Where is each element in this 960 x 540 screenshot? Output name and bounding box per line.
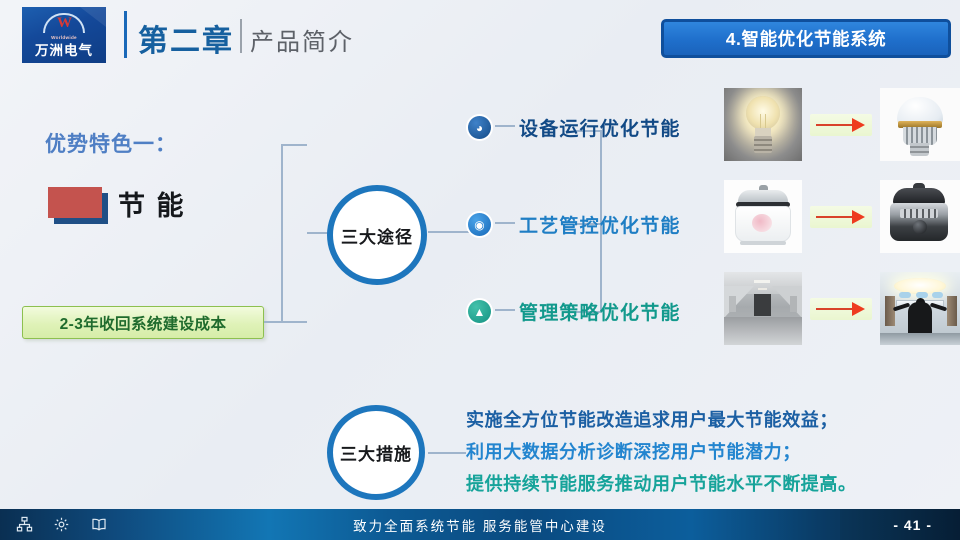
corridor-door-left-shape: [729, 296, 736, 312]
lit-lobby-photo: [880, 272, 960, 345]
left-bracket-bottom-stub: [264, 321, 307, 323]
logo-subtext: Worldwide: [51, 35, 77, 41]
path-item-2-label: 工艺管控优化节能: [519, 211, 681, 238]
measure-line-2: 利用大数据分析诊断深挖用户节能潜力；: [466, 436, 956, 468]
bulb-base-shape: [754, 136, 772, 153]
title-separator: [240, 19, 242, 53]
company-logo: W Worldwide 万洲电气: [22, 7, 106, 63]
electric-pressure-cooker-photo: [880, 180, 960, 253]
logo-emblem-icon: W: [41, 12, 87, 34]
paths-circle-node[interactable]: 三大途径: [327, 185, 427, 285]
path-item-1-label: 设备运行优化节能: [519, 114, 681, 141]
feature-value-text: 节 能: [118, 184, 186, 223]
slide-footer: 致力全面系统节能 服务能管中心建设 - 41 -: [0, 509, 960, 540]
arrow-head: [852, 210, 865, 224]
path-item-1[interactable]: ◕ 设备运行优化节能: [468, 114, 681, 141]
corridor-floor-shape: [724, 317, 802, 345]
actions-circle-node[interactable]: 三大措施: [327, 405, 425, 500]
pressure-cooker-panel-shape: [900, 209, 938, 218]
actions-circle-label: 三大措施: [340, 440, 412, 465]
measure-line-3: 提供持续节能服务推动用户节能水平不断提高。: [466, 468, 956, 500]
measure-line-1: 实施全方位节能改造追求用户最大节能效益；: [466, 404, 956, 436]
feature-label: 优势特色一：: [45, 128, 177, 158]
left-bracket-top-stub: [281, 144, 307, 146]
page-number: - 41 -: [893, 517, 932, 533]
red-arrow-icon: [810, 298, 872, 320]
image-pair-corridor: [724, 272, 960, 345]
paths-circle-label: 三大途径: [341, 223, 413, 248]
pressure-cooker-lid-shape: [893, 188, 945, 204]
actions-circle-connector: [428, 452, 466, 454]
lobby-decor-3-shape: [932, 292, 943, 298]
corridor-lamp-2-shape: [758, 288, 767, 290]
chapter-title: 第二章: [138, 16, 234, 60]
dark-corridor-photo: [724, 272, 802, 345]
incandescent-bulb-photo: [724, 88, 802, 161]
lobby-floor-shape: [880, 333, 960, 345]
clock-circle-icon: ◕: [468, 116, 491, 139]
arrow-shaft: [816, 124, 854, 126]
measures-list: 实施全方位节能改造追求用户最大节能效益； 利用大数据分析诊断深挖用户节能潜力； …: [466, 404, 956, 500]
led-cap-shape: [910, 143, 929, 156]
image-pair-cookers: [724, 180, 960, 253]
cooker-foot-shape: [740, 241, 786, 245]
arrow-head: [852, 118, 865, 132]
rice-cooker-photo: [724, 180, 802, 253]
person-body-shape: [908, 302, 932, 336]
cost-recovery-label: 2-3年收回系统建设成本: [60, 312, 227, 334]
red-arrow-icon: [810, 114, 872, 136]
feature-color-swatch: [48, 187, 102, 218]
cost-recovery-box: 2-3年收回系统建设成本: [22, 306, 264, 339]
logo-company-name: 万洲电气: [35, 42, 93, 59]
cooker-pattern-shape: [752, 214, 772, 232]
section-banner: 4.智能优化节能系统: [661, 19, 951, 58]
path-item-2[interactable]: ◉ 工艺管控优化节能: [468, 211, 681, 238]
pressure-cooker-dial-shape: [913, 220, 927, 234]
corridor-vanishing-point-shape: [754, 294, 771, 316]
page-subtitle: 产品简介: [250, 22, 354, 57]
title-divider: [124, 11, 127, 58]
left-bracket-vertical: [281, 144, 283, 322]
bulb-filament-shape: [760, 114, 766, 128]
path-item-3-label: 管理策略优化节能: [519, 298, 681, 325]
lobby-right-pillar-shape: [947, 296, 957, 326]
corridor-lamp-1-shape: [754, 280, 770, 283]
led-bulb-photo: [880, 88, 960, 161]
image-pair-bulbs: [724, 88, 960, 161]
arrow-shaft: [816, 308, 854, 310]
path-item-3[interactable]: ▲ 管理策略优化节能: [468, 298, 681, 325]
corridor-door-right-shape: [790, 296, 797, 312]
arrow-shaft: [816, 216, 854, 218]
globe-grid-icon: ◉: [468, 213, 491, 236]
lobby-decor-1-shape: [899, 292, 911, 298]
logo-w-letter: W: [41, 15, 87, 31]
red-arrow-icon: [810, 206, 872, 228]
arrow-head: [852, 302, 865, 316]
slide-header: W Worldwide 万洲电气 第二章 产品简介 4.智能优化节能系统: [0, 0, 960, 78]
corridor-right-wall-shape: [772, 286, 802, 318]
footer-slogan: 致力全面系统节能 服务能管中心建设: [0, 515, 960, 535]
lobby-decor-2-shape: [916, 292, 928, 298]
section-banner-label: 4.智能优化节能系统: [726, 26, 887, 51]
triangle-badge-icon: ▲: [468, 300, 491, 323]
